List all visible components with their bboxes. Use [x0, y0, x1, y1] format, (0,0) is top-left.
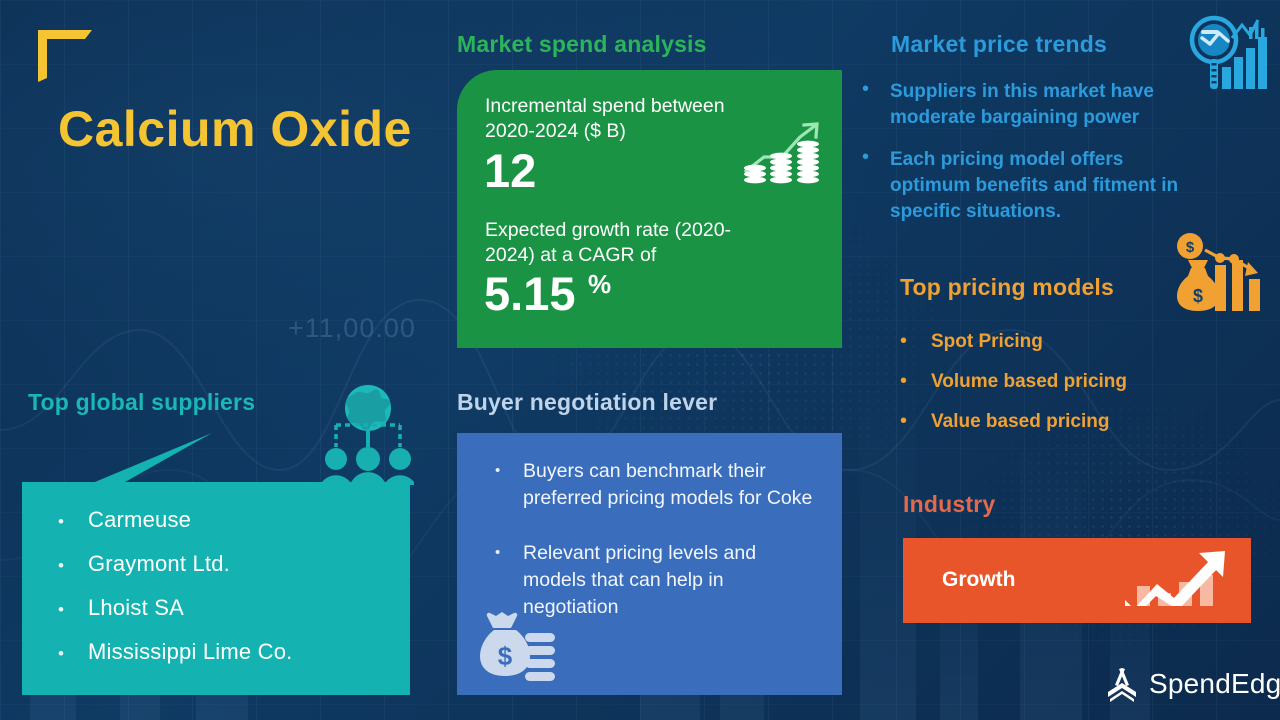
magnifier-bar-chart-icon	[1186, 14, 1268, 100]
list-item: • Lhoist SA	[58, 595, 293, 621]
brand-name-text: SpendEdge	[1149, 668, 1280, 699]
list-item: • Relevant pricing levels and models tha…	[495, 540, 815, 621]
bullet-glyph: •	[862, 79, 890, 131]
status-badge: Growth	[942, 568, 1016, 592]
spendedge-chevron-logo-icon	[1104, 666, 1140, 702]
industry-growth-badge: Growth	[903, 538, 1251, 623]
section-heading-price-trends: Market price trends	[891, 31, 1107, 58]
incremental-spend-value: 12	[484, 143, 536, 198]
list-item: • Spot Pricing	[900, 330, 1220, 353]
money-bag-declining-chart-icon: $ $	[1168, 232, 1270, 314]
spend-analysis-panel: Incremental spend between 2020-2024 ($ B…	[457, 70, 842, 348]
bullet-glyph: •	[862, 147, 890, 225]
price-trends-bullet-text: Suppliers in this market have moderate b…	[890, 79, 1192, 131]
page-title: Calcium Oxide	[58, 100, 412, 158]
slide-canvas: +11,00.00 Calcium Oxide Market spend ana…	[0, 0, 1280, 720]
growth-rate-label: Expected growth rate (2020-2024) at a CA…	[485, 218, 770, 268]
brand-name: SpendEdge™	[1149, 668, 1280, 700]
growth-rate-unit: %	[588, 269, 611, 300]
list-item: • Buyers can benchmark their preferred p…	[495, 458, 815, 512]
pricing-model-label: Value based pricing	[931, 411, 1109, 433]
section-heading-buyer-lever: Buyer negotiation lever	[457, 389, 717, 416]
bullet-glyph: •	[900, 370, 931, 393]
list-item: • Each pricing model offers optimum bene…	[862, 147, 1192, 225]
list-item: • Value based pricing	[900, 410, 1220, 433]
supplier-name: Carmeuse	[88, 507, 191, 533]
bullet-glyph: •	[900, 410, 931, 433]
section-heading-industry: Industry	[903, 491, 995, 518]
list-item: • Graymont Ltd.	[58, 551, 293, 577]
supplier-name: Graymont Ltd.	[88, 551, 230, 577]
section-heading-pricing-models: Top pricing models	[900, 274, 1114, 301]
supplier-name: Lhoist SA	[88, 595, 184, 621]
bullet-glyph: •	[58, 556, 88, 576]
list-item: • Carmeuse	[58, 507, 293, 533]
suppliers-panel: • Carmeuse • Graymont Ltd. • Lhoist SA •…	[22, 425, 410, 695]
bullet-glyph: •	[900, 330, 931, 353]
svg-text:$: $	[1193, 286, 1203, 306]
bullet-glyph: •	[58, 512, 88, 532]
svg-text:$: $	[1186, 239, 1195, 256]
background-ticker-text: +11,00.00	[288, 313, 416, 344]
pricing-model-label: Spot Pricing	[931, 331, 1043, 353]
list-item: • Volume based pricing	[900, 370, 1220, 393]
bullet-glyph: •	[495, 458, 523, 512]
section-heading-suppliers: Top global suppliers	[28, 389, 255, 416]
buyer-lever-bullet-list: • Buyers can benchmark their preferred p…	[495, 458, 815, 649]
list-item: • Mississippi Lime Co.	[58, 639, 293, 665]
price-trends-bullet-list: • Suppliers in this market have moderate…	[862, 79, 1192, 241]
pricing-model-label: Volume based pricing	[931, 371, 1127, 393]
corner-bracket-icon	[38, 30, 92, 82]
coins-growth-arrow-icon	[742, 115, 822, 185]
incremental-spend-label: Incremental spend between 2020-2024 ($ B…	[485, 94, 755, 144]
price-trends-bullet-text: Each pricing model offers optimum benefi…	[890, 147, 1192, 225]
buyer-lever-panel: $ • Buyers can benchmark their preferred…	[457, 433, 842, 695]
brand-logo[interactable]: SpendEdge™	[1104, 666, 1280, 702]
buyer-lever-bullet-text: Relevant pricing levels and models that …	[523, 540, 815, 621]
upward-trend-bars-icon	[1125, 548, 1233, 614]
bullet-glyph: •	[495, 540, 523, 621]
pricing-models-list: • Spot Pricing • Volume based pricing • …	[900, 330, 1220, 450]
bullet-glyph: •	[58, 644, 88, 664]
supplier-name: Mississippi Lime Co.	[88, 639, 293, 665]
growth-rate-value: 5.15	[484, 266, 575, 321]
section-heading-spend-analysis: Market spend analysis	[457, 31, 707, 58]
suppliers-list: • Carmeuse • Graymont Ltd. • Lhoist SA •…	[58, 507, 293, 683]
bullet-glyph: •	[58, 600, 88, 620]
list-item: • Suppliers in this market have moderate…	[862, 79, 1192, 131]
buyer-lever-bullet-text: Buyers can benchmark their preferred pri…	[523, 458, 815, 512]
